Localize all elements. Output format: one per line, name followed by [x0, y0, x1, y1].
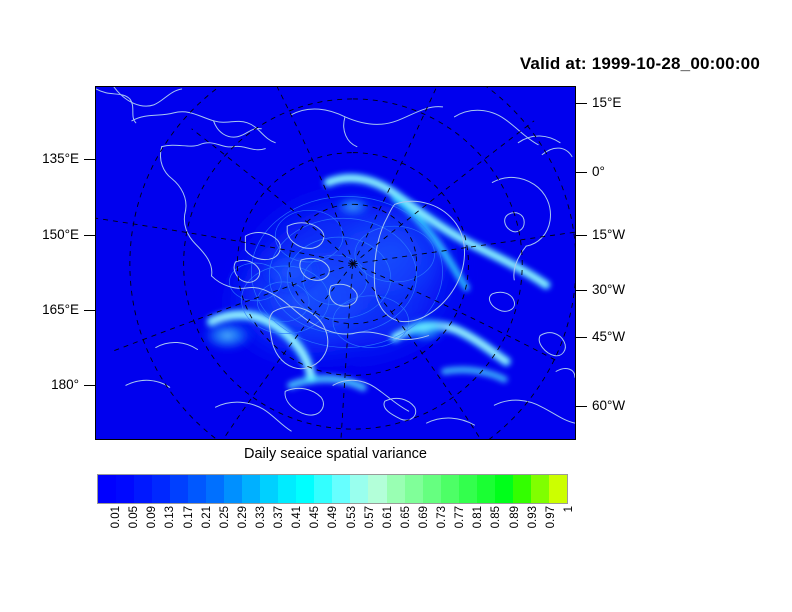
colorbar-tick-label: 0.49 [328, 506, 340, 528]
colorbar-tick-label: 0.69 [419, 506, 431, 528]
colorbar-tick-label: 0.89 [510, 506, 522, 528]
page-title: Valid at: 1999-10-28_00:00:00 [520, 54, 760, 74]
tick-right-2 [576, 235, 587, 236]
colorbar-swatch [459, 475, 477, 503]
tick-right-0 [576, 103, 587, 104]
colorbar-tick-label: 0.21 [202, 506, 214, 528]
colorbar-swatch [314, 475, 332, 503]
colorbar-swatch [224, 475, 242, 503]
colorbar-swatch [531, 475, 549, 503]
axis-label-left-3: 180° [51, 378, 79, 392]
colorbar-swatch [332, 475, 350, 503]
colorbar-tick-labels: 0.010.050.090.130.170.210.250.290.330.37… [97, 506, 568, 566]
colorbar-swatch [549, 475, 567, 503]
colorbar-swatch [278, 475, 296, 503]
colorbar-tick-label: 0.29 [238, 506, 250, 528]
colorbar-tick-label: 0.93 [528, 506, 540, 528]
tick-left-1 [84, 235, 95, 236]
colorbar-swatch [152, 475, 170, 503]
axis-label-right-3: 30°W [592, 283, 625, 297]
axis-label-right-0: 15°E [592, 96, 621, 110]
map-caption: Daily seaice spatial variance [95, 446, 576, 462]
axis-label-right-5: 60°W [592, 399, 625, 413]
colorbar-swatch [242, 475, 260, 503]
colorbar-tick-label: 0.73 [437, 506, 449, 528]
tick-left-0 [84, 159, 95, 160]
colorbar-swatch [477, 475, 495, 503]
colorbar-tick-label: 0.05 [129, 506, 141, 528]
tick-right-3 [576, 290, 587, 291]
colorbar-swatch [98, 475, 116, 503]
axis-label-right-2: 15°W [592, 228, 625, 242]
colorbar-swatch [188, 475, 206, 503]
colorbar-swatch [368, 475, 386, 503]
colorbar-tick-label: 0.33 [256, 506, 268, 528]
map-plot-area [95, 86, 576, 440]
colorbar-tick-label: 0.17 [184, 506, 196, 528]
colorbar-tick-label: 0.13 [165, 506, 177, 528]
colorbar-tick-label: 0.09 [147, 506, 159, 528]
colorbar-swatch [170, 475, 188, 503]
colorbar-tick-label: 1 [564, 506, 576, 512]
colorbar-swatch [116, 475, 134, 503]
colorbar-tick-label: 0.37 [274, 506, 286, 528]
colorbar-swatch [441, 475, 459, 503]
colorbar-swatch [296, 475, 314, 503]
tick-right-5 [576, 406, 587, 407]
colorbar-tick-label: 0.45 [310, 506, 322, 528]
axis-label-left-0: 135°E [42, 152, 79, 166]
colorbar-tick-label: 0.61 [383, 506, 395, 528]
colorbar-swatch [350, 475, 368, 503]
colorbar-swatch [260, 475, 278, 503]
colorbar-tick-label: 0.01 [111, 506, 123, 528]
colorbar-tick-label: 0.53 [347, 506, 359, 528]
colorbar-swatch [513, 475, 531, 503]
colorbar-tick-label: 0.57 [365, 506, 377, 528]
axis-label-left-1: 150°E [42, 228, 79, 242]
map-svg [96, 87, 575, 439]
tick-left-3 [84, 385, 95, 386]
colorbar-swatch [134, 475, 152, 503]
tick-right-4 [576, 337, 587, 338]
colorbar [97, 474, 568, 504]
colorbar-tick-label: 0.85 [491, 506, 503, 528]
colorbar-tick-label: 0.41 [292, 506, 304, 528]
tick-left-2 [84, 310, 95, 311]
colorbar-swatch [495, 475, 513, 503]
axis-label-right-4: 45°W [592, 330, 625, 344]
colorbar-swatch [405, 475, 423, 503]
tick-right-1 [576, 172, 587, 173]
axis-label-left-2: 165°E [42, 303, 79, 317]
colorbar-gradient [97, 474, 568, 504]
map-raster-layer [96, 87, 575, 439]
colorbar-swatch [387, 475, 405, 503]
colorbar-tick-label: 0.81 [473, 506, 485, 528]
axis-label-right-1: 0° [592, 165, 605, 179]
colorbar-swatch [206, 475, 224, 503]
colorbar-tick-label: 0.25 [220, 506, 232, 528]
colorbar-tick-label: 0.65 [401, 506, 413, 528]
colorbar-swatch [423, 475, 441, 503]
colorbar-tick-label: 0.97 [546, 506, 558, 528]
colorbar-tick-label: 0.77 [455, 506, 467, 528]
